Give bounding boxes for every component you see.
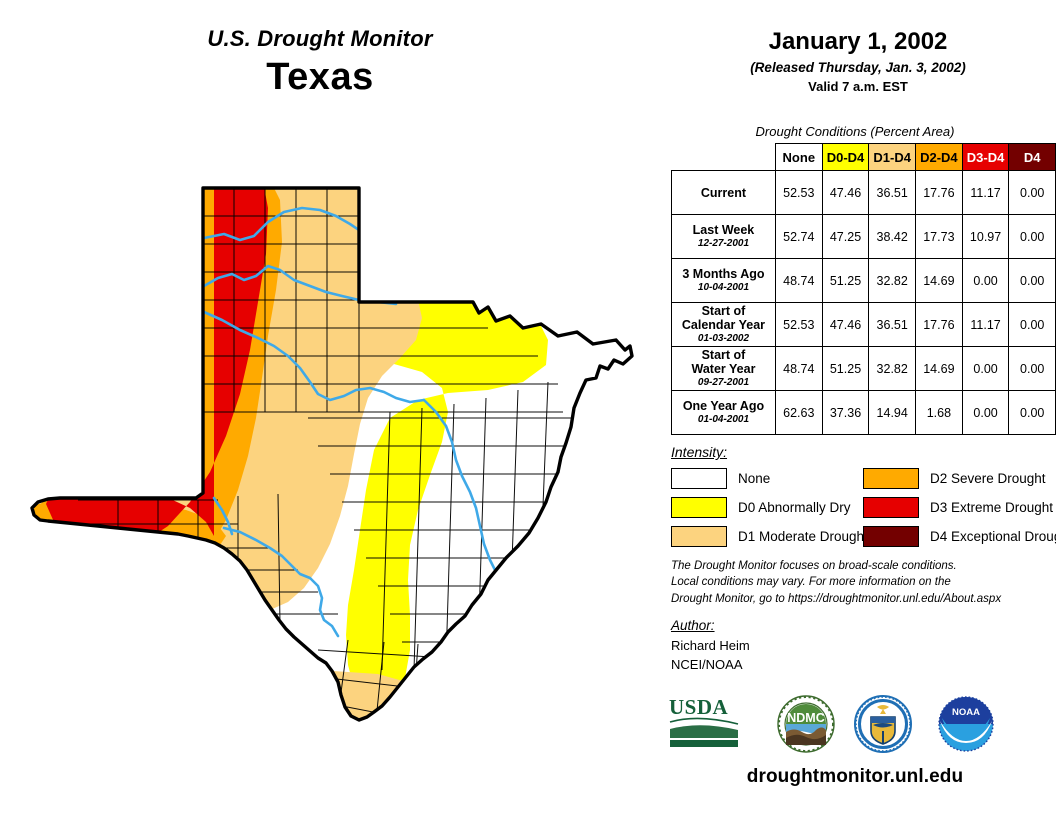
cell-value: 0.00 [1009,215,1056,259]
legend-label: D2 Severe Drought [930,471,1046,486]
column-header-d4: D4 [1009,144,1056,171]
drought-fill-layer [18,150,648,770]
cell-value: 37.36 [822,391,869,435]
table-row: Current 52.53 47.46 36.51 17.76 11.17 0.… [672,171,1056,215]
author-heading: Author: [671,618,715,633]
row-label-text: Last Week [693,223,755,237]
cell-value: 0.00 [1009,347,1056,391]
row-label-start-of-calendar-year: Start ofCalendar Year 01-03-2002 [672,303,776,347]
header-blank-cell [672,144,776,171]
legend-label: D0 Abnormally Dry [738,500,851,515]
row-label-text: One Year Ago [683,399,764,413]
column-header-d0-d4: D0-D4 [822,144,869,171]
table-row: Start ofCalendar Year 01-03-2002 52.53 4… [672,303,1056,347]
legend-label: D4 Exceptional Drought [930,529,1056,544]
author-name: Richard Heim [671,637,750,656]
row-label-date: 01-03-2002 [672,333,775,344]
legend-item-d1[interactable]: D1 Moderate Drought [671,524,868,548]
issue-date: January 1, 2002 [660,28,1056,56]
cell-value: 17.76 [916,171,963,215]
cell-value: 32.82 [869,259,916,303]
legend-item-d4[interactable]: D4 Exceptional Drought [863,524,1056,548]
author-affiliation: NCEI/NOAA [671,656,750,675]
swatch-d3 [863,497,919,518]
cell-value: 14.69 [916,347,963,391]
legend-item-none[interactable]: None [671,466,868,490]
disclaimer-line-2: Local conditions may vary. For more info… [671,574,1051,590]
row-label-date: 01-04-2001 [672,414,775,425]
table-row: Start ofWater Year 09-27-2001 48.74 51.2… [672,347,1056,391]
legend-label: D3 Extreme Drought [930,500,1053,515]
column-header-d3-d4: D3-D4 [962,144,1009,171]
author-block: Richard Heim NCEI/NOAA [671,637,750,675]
cell-value: 48.74 [775,347,822,391]
site-url[interactable]: droughtmonitor.unl.edu [660,766,1050,788]
river-colorado-coast [458,628,486,684]
column-header-d2-d4: D2-D4 [916,144,963,171]
cell-value: 52.53 [775,303,822,347]
texas-drought-map[interactable] [18,150,648,770]
cell-value: 11.17 [962,171,1009,215]
swatch-d4 [863,526,919,547]
cell-value: 17.76 [916,303,963,347]
legend-item-d3[interactable]: D3 Extreme Drought [863,495,1056,519]
svg-text:NOAA: NOAA [952,707,980,718]
disclaimer-line-3[interactable]: Drought Monitor, go to https://droughtmo… [671,591,1051,607]
cell-value: 0.00 [1009,303,1056,347]
cell-value: 14.94 [869,391,916,435]
row-label-current: Current [672,171,776,215]
usdc-logo[interactable] [853,694,913,754]
row-label-last-week: Last Week 12-27-2001 [672,215,776,259]
cell-value: 47.25 [822,215,869,259]
cell-value: 47.46 [822,171,869,215]
cell-value: 0.00 [962,391,1009,435]
state-title: Texas [0,56,640,99]
table-caption: Drought Conditions (Percent Area) [660,124,1050,139]
cell-value: 52.53 [775,171,822,215]
intensity-heading: Intensity: [671,444,727,460]
legend-label: None [738,471,770,486]
map-panel: U.S. Drought Monitor Texas [0,0,660,816]
drought-conditions-table: None D0-D4 D1-D4 D2-D4 D3-D4 D4 Current … [671,143,1056,435]
usda-logo[interactable]: USDA [668,694,740,750]
date-block: January 1, 2002 (Released Thursday, Jan.… [660,28,1056,94]
disclaimer-text: The Drought Monitor focuses on broad-sca… [671,558,1051,607]
cell-value: 14.69 [916,259,963,303]
cell-value: 36.51 [869,171,916,215]
cell-value: 38.42 [869,215,916,259]
column-header-none: None [775,144,822,171]
cell-value: 51.25 [822,347,869,391]
cell-value: 0.00 [1009,391,1056,435]
legend-column-right: D2 Severe Drought D3 Extreme Drought D4 … [863,466,1056,553]
legend-item-d0[interactable]: D0 Abnormally Dry [671,495,868,519]
cell-value: 1.68 [916,391,963,435]
row-label-text: Current [701,186,746,200]
map-svg [18,150,648,770]
cell-value: 0.00 [1009,259,1056,303]
cell-value: 36.51 [869,303,916,347]
page-title: U.S. Drought Monitor [0,26,640,52]
cell-value: 11.17 [962,303,1009,347]
row-label-text: 3 Months Ago [682,267,764,281]
cell-value: 51.25 [822,259,869,303]
svg-text:USDA: USDA [669,695,729,719]
row-label-date: 10-04-2001 [672,282,775,293]
row-label-date: 12-27-2001 [672,238,775,249]
logo-row: USDA NDMC [668,694,1054,762]
table-row: One Year Ago 01-04-2001 62.63 37.36 14.9… [672,391,1056,435]
fill-d1-south-texas [306,670,432,742]
row-label-text: Start ofCalendar Year [682,304,765,332]
noaa-logo[interactable]: NOAA [936,694,996,754]
ndmc-logo[interactable]: NDMC [776,694,836,754]
cell-value: 0.00 [962,347,1009,391]
row-label-one-year-ago: One Year Ago 01-04-2001 [672,391,776,435]
row-label-start-of-water-year: Start ofWater Year 09-27-2001 [672,347,776,391]
row-label-date: 09-27-2001 [672,377,775,388]
cell-value: 32.82 [869,347,916,391]
cell-value: 0.00 [962,259,1009,303]
swatch-d0 [671,497,727,518]
cell-value: 48.74 [775,259,822,303]
cell-value: 10.97 [962,215,1009,259]
row-label-text: Start ofWater Year [692,348,756,376]
swatch-d2 [863,468,919,489]
svg-text:NDMC: NDMC [787,711,825,725]
column-header-d1-d4: D1-D4 [869,144,916,171]
swatch-none [671,468,727,489]
title-block: U.S. Drought Monitor Texas [0,26,640,99]
cell-value: 52.74 [775,215,822,259]
table-row: Last Week 12-27-2001 52.74 47.25 38.42 1… [672,215,1056,259]
cell-value: 62.63 [775,391,822,435]
table-header-row: None D0-D4 D1-D4 D2-D4 D3-D4 D4 [672,144,1056,171]
legend-column-left: None D0 Abnormally Dry D1 Moderate Droug… [671,466,868,553]
valid-time: Valid 7 a.m. EST [660,79,1056,94]
legend-item-d2[interactable]: D2 Severe Drought [863,466,1056,490]
cell-value: 47.46 [822,303,869,347]
cell-value: 17.73 [916,215,963,259]
disclaimer-line-1: The Drought Monitor focuses on broad-sca… [671,558,1051,574]
info-panel: January 1, 2002 (Released Thursday, Jan.… [660,0,1056,816]
cell-value: 0.00 [1009,171,1056,215]
row-label-3-months-ago: 3 Months Ago 10-04-2001 [672,259,776,303]
legend-label: D1 Moderate Drought [738,529,868,544]
release-date: (Released Thursday, Jan. 3, 2002) [660,60,1056,75]
table-row: 3 Months Ago 10-04-2001 48.74 51.25 32.8… [672,259,1056,303]
swatch-d1 [671,526,727,547]
